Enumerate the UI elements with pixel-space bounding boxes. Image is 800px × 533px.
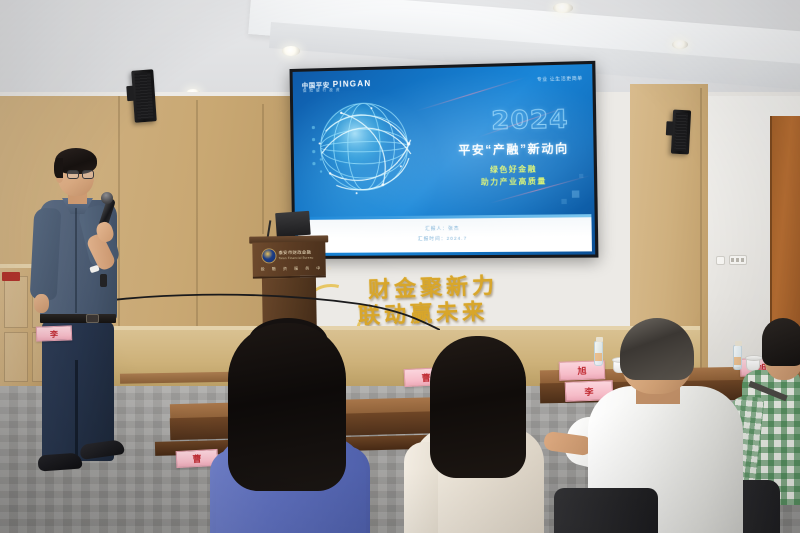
- slide-glow: [293, 88, 448, 252]
- name-card: 李: [36, 325, 73, 341]
- wall-socket[interactable]: [716, 256, 725, 265]
- attendee-long-hair: [430, 336, 526, 478]
- downlight-icon: [282, 46, 300, 56]
- name-card-text: 李: [37, 326, 72, 342]
- downlight-icon: [553, 3, 573, 13]
- attendee-hair: [762, 318, 800, 366]
- slide-tagline: 专业 让生活更简单: [537, 76, 583, 83]
- organization-emblem-icon: [262, 249, 275, 262]
- downlight-icon: [672, 40, 688, 49]
- red-object-on-cabinet: [2, 272, 20, 281]
- presenter-belt: [40, 314, 116, 323]
- wood-panel-seam: [262, 104, 264, 234]
- attendee-long-hair: [228, 323, 346, 491]
- conference-room-scene: 中国平安 PINGAN 保 险 银 行 投 资 专业 让生活更简单 2024 平…: [0, 0, 800, 533]
- wall-socket[interactable]: [729, 255, 747, 265]
- slide-accent-square: [572, 190, 580, 197]
- slide-streak: [479, 106, 569, 137]
- presenter-shirt-placket: [75, 208, 77, 313]
- slide-accent-square: [579, 174, 583, 178]
- presenter-shoe-left: [37, 452, 82, 471]
- slide-title: 平安“产融”新动向: [435, 140, 592, 159]
- wood-panel-seam: [700, 88, 702, 378]
- cabinet-door[interactable]: [4, 332, 28, 382]
- brand-sub-text: 保 险 银 行 投 资: [303, 88, 341, 94]
- presenter-hand-left: [34, 294, 49, 313]
- slide-canvas: 中国平安 PINGAN 保 险 银 行 投 资 专业 让生活更简单 2024 平…: [293, 64, 596, 256]
- presenter-leg-split: [75, 360, 78, 461]
- wall-speaker-right: [671, 110, 691, 155]
- presenter-arm-left: [30, 207, 62, 300]
- presenter-hair-side: [54, 158, 63, 178]
- podium-org-name-en: Taian Financial Bureau: [279, 256, 314, 261]
- presenter-remote-clicker: [100, 274, 107, 287]
- presenter-belt-buckle: [86, 314, 99, 323]
- water-bottle: [733, 345, 742, 370]
- wall-speaker-left: [131, 69, 157, 122]
- eyeglasses-icon: [67, 170, 94, 179]
- slide-presenter-line: 汇报人：张杰: [425, 226, 460, 232]
- slide-date-line: 汇报时间：2024.7: [418, 236, 468, 242]
- brand-name-en: PINGAN: [333, 79, 372, 89]
- podium-body: 泰安市财政金融 Taian Financial Bureau 投 融 资 服 务…: [252, 241, 326, 278]
- projection-screen: 中国平安 PINGAN 保 险 银 行 投 资 专业 让生活更简单 2024 平…: [290, 61, 599, 259]
- podium-laptop: [275, 211, 311, 237]
- slide-footer: 汇报人：张杰 汇报时间：2024.7: [298, 214, 592, 253]
- slide-subtitle-line2: 助力产业高质量: [436, 175, 593, 188]
- slide-brand-logo: 中国平安 PINGAN 保 险 银 行 投 资: [302, 78, 372, 90]
- slide-footer-bar: [298, 214, 592, 220]
- water-bottle: [594, 341, 603, 366]
- slide-subtitle-line1: 绿色好金融: [436, 162, 593, 176]
- slide-year: 2024: [491, 104, 569, 135]
- cabinet-door[interactable]: [4, 276, 28, 328]
- slide-accent-square: [561, 199, 566, 204]
- office-chair: [554, 488, 658, 533]
- globe-graphic-icon: [311, 91, 426, 206]
- brand-name-cn: 中国平安: [302, 79, 330, 90]
- slide-streak: [416, 77, 525, 111]
- slide-streak: [490, 175, 592, 204]
- podium-tabs-text: 投 融 资 服 务 中 心: [261, 265, 335, 272]
